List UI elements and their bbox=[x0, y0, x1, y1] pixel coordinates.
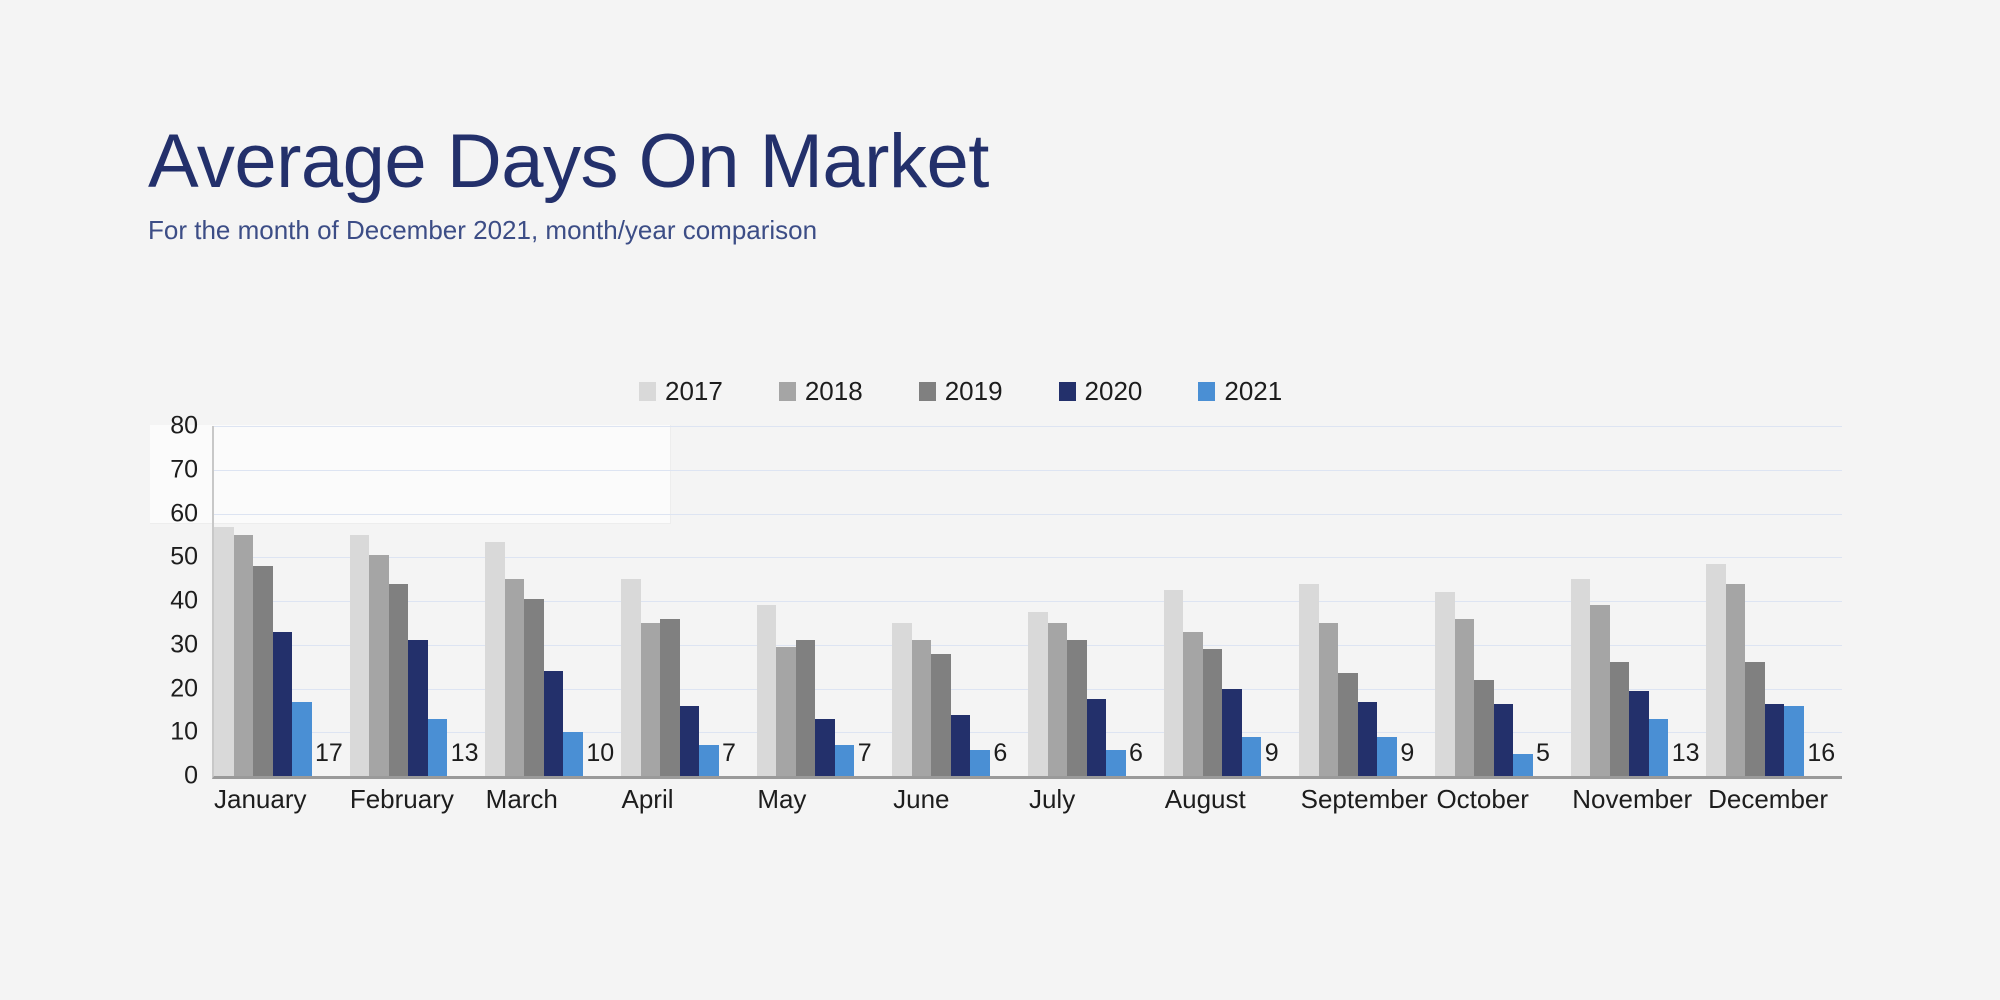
bar-value-label: 7 bbox=[858, 739, 872, 768]
bar-2021-november[interactable]: 13 bbox=[1649, 719, 1669, 776]
x-axis-tick-october: October bbox=[1434, 784, 1570, 815]
y-axis-tick: 40 bbox=[170, 587, 198, 616]
x-axis-tick-august: August bbox=[1163, 784, 1299, 815]
y-axis-tick: 50 bbox=[170, 543, 198, 572]
y-axis-tick: 80 bbox=[170, 412, 198, 441]
x-axis-tick-april: April bbox=[619, 784, 755, 815]
bar-2017-april[interactable] bbox=[621, 579, 641, 776]
bar-value-label: 10 bbox=[586, 739, 614, 768]
y-axis-tick: 20 bbox=[170, 674, 198, 703]
x-axis-tick-november: November bbox=[1570, 784, 1706, 815]
x-axis: JanuaryFebruaryMarchAprilMayJuneJulyAugu… bbox=[212, 784, 1842, 815]
legend-label: 2017 bbox=[665, 378, 723, 404]
x-axis-tick-september: September bbox=[1299, 784, 1435, 815]
page-subtitle: For the month of December 2021, month/ye… bbox=[148, 214, 1648, 246]
bar-2018-march[interactable] bbox=[505, 579, 525, 776]
legend-label: 2018 bbox=[805, 378, 863, 404]
bar-2020-march[interactable] bbox=[544, 671, 564, 776]
bar-value-label: 6 bbox=[1129, 739, 1143, 768]
legend-label: 2020 bbox=[1085, 378, 1143, 404]
bar-2020-june[interactable] bbox=[951, 715, 971, 776]
bar-2019-november[interactable] bbox=[1610, 662, 1630, 776]
bar-group-september: 9 bbox=[1299, 426, 1435, 776]
bars-layer: 17131077669951316 bbox=[214, 426, 1842, 776]
bar-value-label: 7 bbox=[722, 739, 736, 768]
y-axis: 80706050403020100 bbox=[150, 426, 198, 776]
bar-2018-june[interactable] bbox=[912, 640, 932, 776]
bar-value-label: 9 bbox=[1400, 739, 1414, 768]
legend-item-2020[interactable]: 2020 bbox=[1059, 378, 1143, 404]
bar-2020-february[interactable] bbox=[408, 640, 428, 776]
legend-item-2018[interactable]: 2018 bbox=[779, 378, 863, 404]
bar-value-label: 13 bbox=[451, 739, 479, 768]
bar-2021-september[interactable]: 9 bbox=[1377, 737, 1397, 776]
legend-item-2019[interactable]: 2019 bbox=[919, 378, 1003, 404]
bar-2018-april[interactable] bbox=[641, 623, 661, 776]
legend-swatch-icon bbox=[639, 382, 656, 401]
bar-2018-september[interactable] bbox=[1319, 623, 1339, 776]
bar-2021-january[interactable]: 17 bbox=[292, 702, 312, 776]
bar-2019-march[interactable] bbox=[524, 599, 544, 776]
chart-legend: 20172018201920202021 bbox=[639, 378, 1282, 404]
bar-2017-november[interactable] bbox=[1571, 579, 1591, 776]
bar-2019-april[interactable] bbox=[660, 619, 680, 777]
bar-2017-september[interactable] bbox=[1299, 584, 1319, 777]
legend-label: 2019 bbox=[945, 378, 1003, 404]
y-axis-tick: 30 bbox=[170, 630, 198, 659]
bar-2021-march[interactable]: 10 bbox=[563, 732, 583, 776]
bar-2021-february[interactable]: 13 bbox=[428, 719, 448, 776]
bar-2020-november[interactable] bbox=[1629, 691, 1649, 776]
bar-group-april: 7 bbox=[621, 426, 757, 776]
bar-2020-august[interactable] bbox=[1222, 689, 1242, 777]
bar-2018-february[interactable] bbox=[369, 555, 389, 776]
bar-2021-may[interactable]: 7 bbox=[835, 745, 855, 776]
bar-2020-july[interactable] bbox=[1087, 699, 1107, 776]
bar-value-label: 6 bbox=[993, 739, 1007, 768]
x-axis-tick-may: May bbox=[755, 784, 891, 815]
legend-swatch-icon bbox=[1198, 382, 1215, 401]
bar-2020-december[interactable] bbox=[1765, 704, 1785, 776]
page-title: Average Days On Market bbox=[148, 120, 1648, 204]
bar-2019-may[interactable] bbox=[796, 640, 816, 776]
bar-2021-october[interactable]: 5 bbox=[1513, 754, 1533, 776]
bar-group-december: 16 bbox=[1706, 426, 1842, 776]
bar-2019-september[interactable] bbox=[1338, 673, 1358, 776]
legend-item-2021[interactable]: 2021 bbox=[1198, 378, 1282, 404]
bar-chart: 80706050403020100 20172018201920202021 1… bbox=[150, 420, 1850, 840]
bar-2019-july[interactable] bbox=[1067, 640, 1087, 776]
x-axis-tick-february: February bbox=[348, 784, 484, 815]
bar-2020-october[interactable] bbox=[1494, 704, 1514, 776]
bar-2019-december[interactable] bbox=[1745, 662, 1765, 776]
bar-2017-july[interactable] bbox=[1028, 612, 1048, 776]
bar-value-label: 5 bbox=[1536, 739, 1550, 768]
bar-2017-october[interactable] bbox=[1435, 592, 1455, 776]
y-axis-tick: 60 bbox=[170, 499, 198, 528]
x-axis-tick-july: July bbox=[1027, 784, 1163, 815]
bar-2018-january[interactable] bbox=[234, 535, 254, 776]
bar-2018-november[interactable] bbox=[1590, 605, 1610, 776]
slide-header: Average Days On Market For the month of … bbox=[148, 120, 1648, 246]
legend-swatch-icon bbox=[779, 382, 796, 401]
bar-2017-march[interactable] bbox=[485, 542, 505, 776]
bar-2021-april[interactable]: 7 bbox=[699, 745, 719, 776]
bar-2020-january[interactable] bbox=[273, 632, 293, 776]
bar-2018-july[interactable] bbox=[1048, 623, 1068, 776]
bar-value-label: 16 bbox=[1807, 739, 1835, 768]
bar-2017-may[interactable] bbox=[757, 605, 777, 776]
bar-2020-may[interactable] bbox=[815, 719, 835, 776]
legend-item-2017[interactable]: 2017 bbox=[639, 378, 723, 404]
bar-2021-june[interactable]: 6 bbox=[970, 750, 990, 776]
plot-area: 20172018201920202021 17131077669951316 bbox=[212, 426, 1842, 779]
bar-2018-october[interactable] bbox=[1455, 619, 1475, 777]
bar-2017-june[interactable] bbox=[892, 623, 912, 776]
x-axis-tick-january: January bbox=[212, 784, 348, 815]
bar-group-november: 13 bbox=[1571, 426, 1707, 776]
bar-value-label: 17 bbox=[315, 739, 343, 768]
bar-group-january: 17 bbox=[214, 426, 350, 776]
bar-2020-september[interactable] bbox=[1358, 702, 1378, 776]
bar-value-label: 13 bbox=[1672, 739, 1700, 768]
bar-2021-july[interactable]: 6 bbox=[1106, 750, 1126, 776]
bar-2019-august[interactable] bbox=[1203, 649, 1223, 776]
bar-2019-june[interactable] bbox=[931, 654, 951, 777]
bar-group-june: 6 bbox=[892, 426, 1028, 776]
legend-label: 2021 bbox=[1224, 378, 1282, 404]
bar-group-march: 10 bbox=[485, 426, 621, 776]
bar-2017-august[interactable] bbox=[1164, 590, 1184, 776]
x-axis-tick-march: March bbox=[484, 784, 620, 815]
bar-2020-april[interactable] bbox=[680, 706, 700, 776]
x-axis-tick-december: December bbox=[1706, 784, 1842, 815]
y-axis-tick: 70 bbox=[170, 455, 198, 484]
bar-2018-december[interactable] bbox=[1726, 584, 1746, 777]
x-axis-tick-june: June bbox=[891, 784, 1027, 815]
legend-swatch-icon bbox=[1059, 382, 1076, 401]
bar-group-may: 7 bbox=[757, 426, 893, 776]
y-axis-tick: 0 bbox=[184, 762, 198, 791]
bar-2017-february[interactable] bbox=[350, 535, 370, 776]
bar-group-october: 5 bbox=[1435, 426, 1571, 776]
bar-group-august: 9 bbox=[1164, 426, 1300, 776]
legend-swatch-icon bbox=[919, 382, 936, 401]
bar-2019-february[interactable] bbox=[389, 584, 409, 777]
bar-2017-january[interactable] bbox=[214, 527, 234, 776]
bar-value-label: 9 bbox=[1265, 739, 1279, 768]
bar-2021-december[interactable]: 16 bbox=[1784, 706, 1804, 776]
bar-2017-december[interactable] bbox=[1706, 564, 1726, 776]
bar-2019-january[interactable] bbox=[253, 566, 273, 776]
bar-2021-august[interactable]: 9 bbox=[1242, 737, 1262, 776]
bar-2018-may[interactable] bbox=[776, 647, 796, 776]
bar-group-february: 13 bbox=[350, 426, 486, 776]
bar-2019-october[interactable] bbox=[1474, 680, 1494, 776]
y-axis-tick: 10 bbox=[170, 718, 198, 747]
bar-2018-august[interactable] bbox=[1183, 632, 1203, 776]
bar-group-july: 6 bbox=[1028, 426, 1164, 776]
